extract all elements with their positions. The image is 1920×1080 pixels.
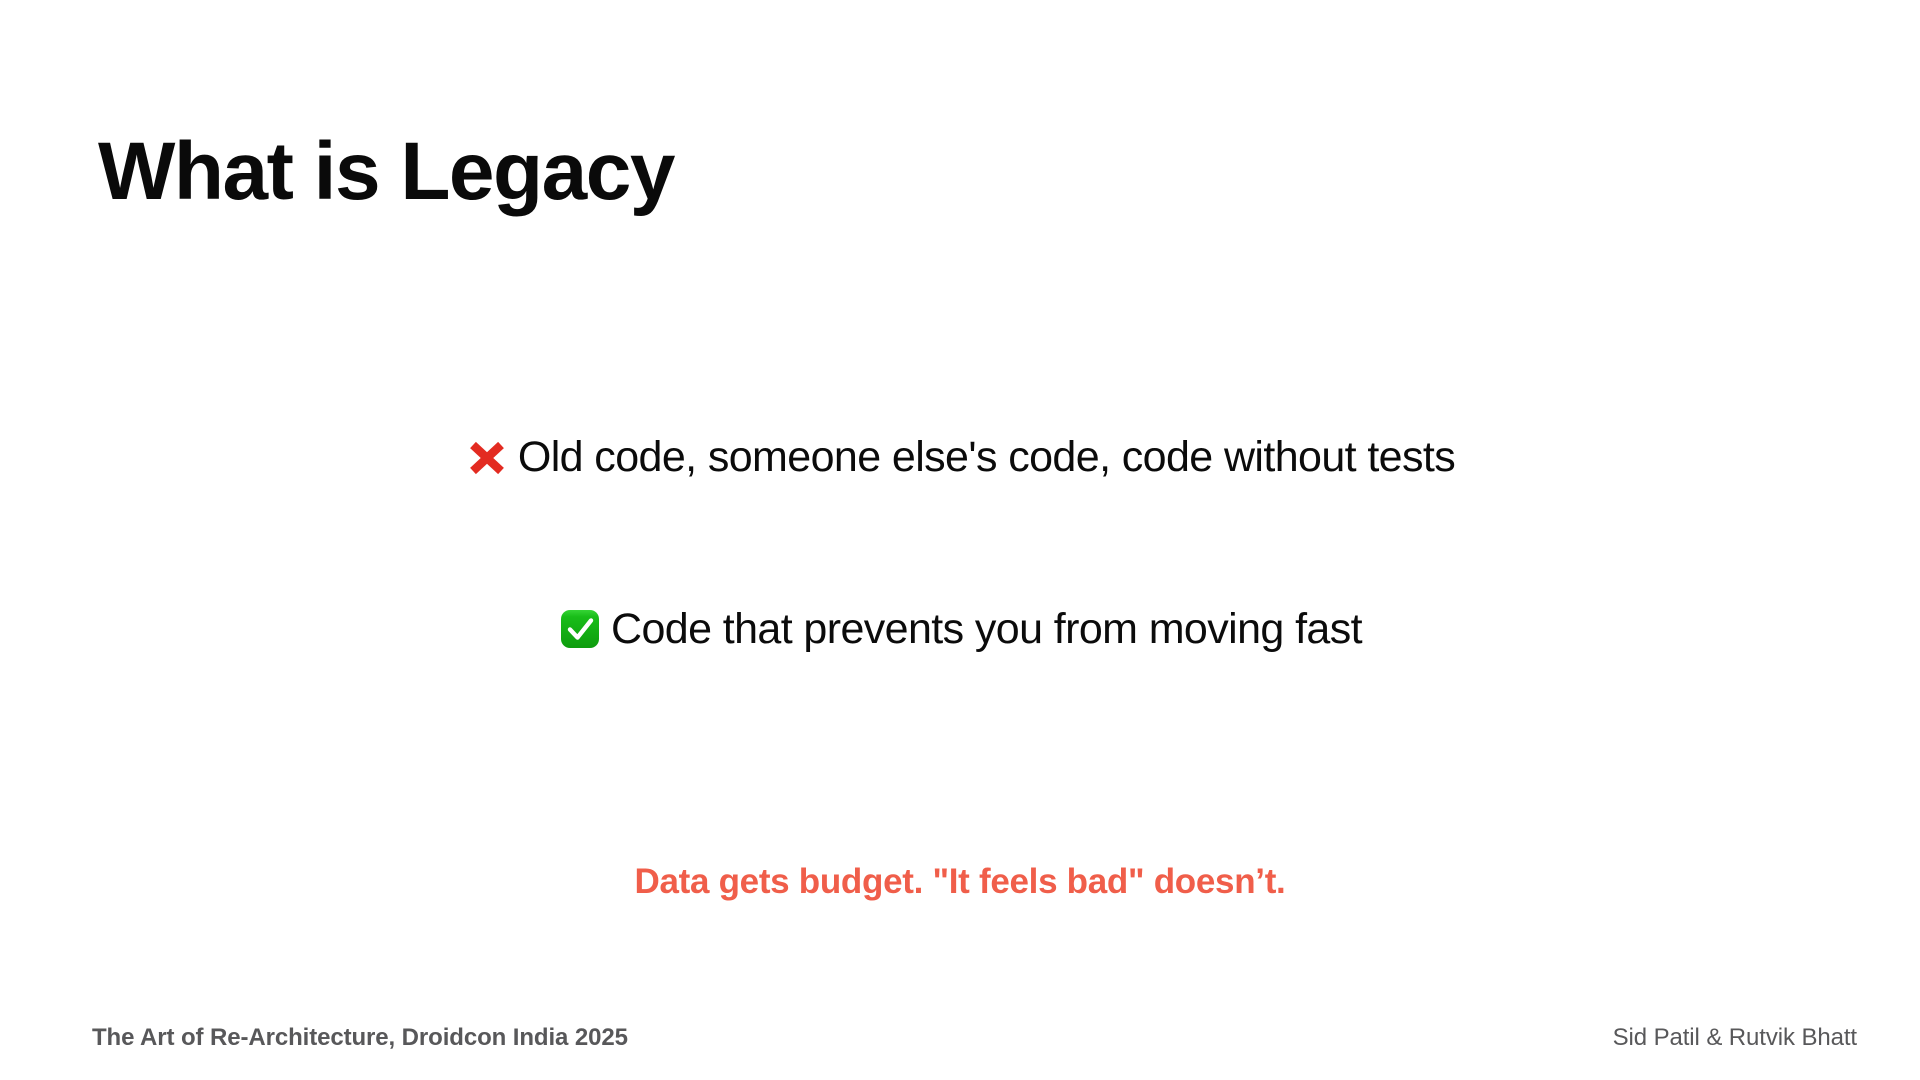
white-check-mark-icon [558, 607, 602, 651]
cross-mark-icon [465, 436, 509, 480]
page-title: What is Legacy [98, 127, 674, 217]
slide-canvas: What is Legacy Old code, someone else's … [0, 0, 1920, 1080]
list-item: Old code, someone else's code, code with… [0, 432, 1920, 484]
bullet-list: Old code, someone else's code, code with… [0, 432, 1920, 655]
slide-footer: The Art of Re-Architecture, Droidcon Ind… [0, 1024, 1920, 1054]
list-item-label: Code that prevents you from moving fast [611, 604, 1362, 656]
footer-talk-title: The Art of Re-Architecture, Droidcon Ind… [92, 1024, 628, 1052]
list-item-label: Old code, someone else's code, code with… [518, 432, 1455, 484]
list-item: Code that prevents you from moving fast [0, 604, 1920, 656]
footer-speakers: Sid Patil & Rutvik Bhatt [1613, 1024, 1857, 1052]
tagline-text: Data gets budget. "It feels bad" doesn’t… [0, 862, 1920, 902]
